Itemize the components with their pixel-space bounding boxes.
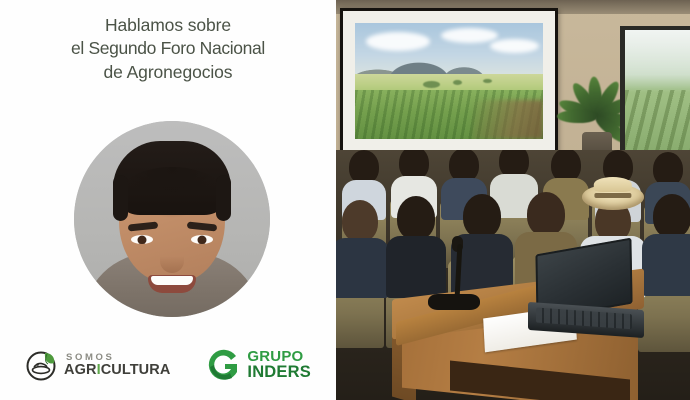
window-glare — [625, 30, 690, 160]
frond — [557, 110, 597, 123]
headline-line-3: de Agronegocios — [8, 61, 328, 84]
inders-line-2: INDERS — [247, 364, 311, 380]
window — [620, 26, 690, 160]
microphone-base — [428, 294, 480, 310]
logo-grupo-inders: GRUPO INDERS — [206, 347, 311, 383]
agricultura-tagline: SOMOS — [66, 353, 170, 363]
speaker-portrait — [74, 121, 270, 317]
straw-hat-icon — [582, 184, 644, 210]
letter-g-icon — [206, 347, 242, 383]
hair — [113, 141, 231, 215]
headline: Hablamos sobre el Segundo Foro Nacional … — [8, 14, 328, 84]
attendee-head — [653, 152, 683, 186]
attendee-head — [463, 194, 501, 238]
left-text-panel: Hablamos sobre el Segundo Foro Nacional … — [0, 0, 336, 400]
leaf-emblem-icon — [25, 348, 59, 382]
attendee-head — [527, 192, 565, 236]
cloud — [441, 28, 497, 43]
attendee — [336, 200, 384, 292]
eye-right — [191, 235, 213, 244]
logo-somos-agricultura: SOMOS AGRICULTURA — [25, 348, 170, 382]
cornfield-slide — [355, 23, 543, 139]
eye-left — [131, 235, 153, 244]
attendee-body — [336, 238, 389, 298]
logo-row: SOMOS AGRICULTURA GRUPO INDERS — [0, 338, 336, 392]
projection-screen — [340, 8, 558, 156]
podium — [392, 258, 652, 400]
laptop-keyboard — [536, 308, 632, 330]
attendee-head — [349, 150, 379, 184]
hat-band — [594, 193, 631, 198]
hat-crown — [594, 177, 632, 192]
bush — [423, 81, 440, 88]
agricultura-name-part1: AGR — [64, 362, 97, 378]
promo-banner-canvas: Hablamos sobre el Segundo Foro Nacional … — [0, 0, 690, 400]
conference-photo — [336, 0, 690, 400]
headline-line-1: Hablamos sobre — [8, 14, 328, 37]
sideburn-right — [216, 175, 231, 221]
attendee-head — [342, 200, 378, 242]
slide-soil — [472, 100, 543, 139]
attendee-head — [653, 194, 690, 238]
agricultura-name-part2: CULTURA — [101, 362, 171, 378]
attendee — [648, 194, 690, 286]
attendee-head — [397, 196, 435, 240]
inders-line-1: GRUPO — [247, 350, 311, 365]
agricultura-name: AGRICULTURA — [64, 363, 170, 378]
cloud — [366, 32, 430, 51]
inders-wordmark: GRUPO INDERS — [247, 350, 311, 381]
smiling-mouth — [148, 275, 196, 293]
agricultura-wordmark: SOMOS AGRICULTURA — [64, 353, 170, 378]
headline-line-2: el Segundo Foro Nacional — [8, 37, 328, 60]
nose — [160, 249, 184, 273]
sideburn-left — [113, 175, 128, 221]
portrait-background — [74, 121, 270, 317]
